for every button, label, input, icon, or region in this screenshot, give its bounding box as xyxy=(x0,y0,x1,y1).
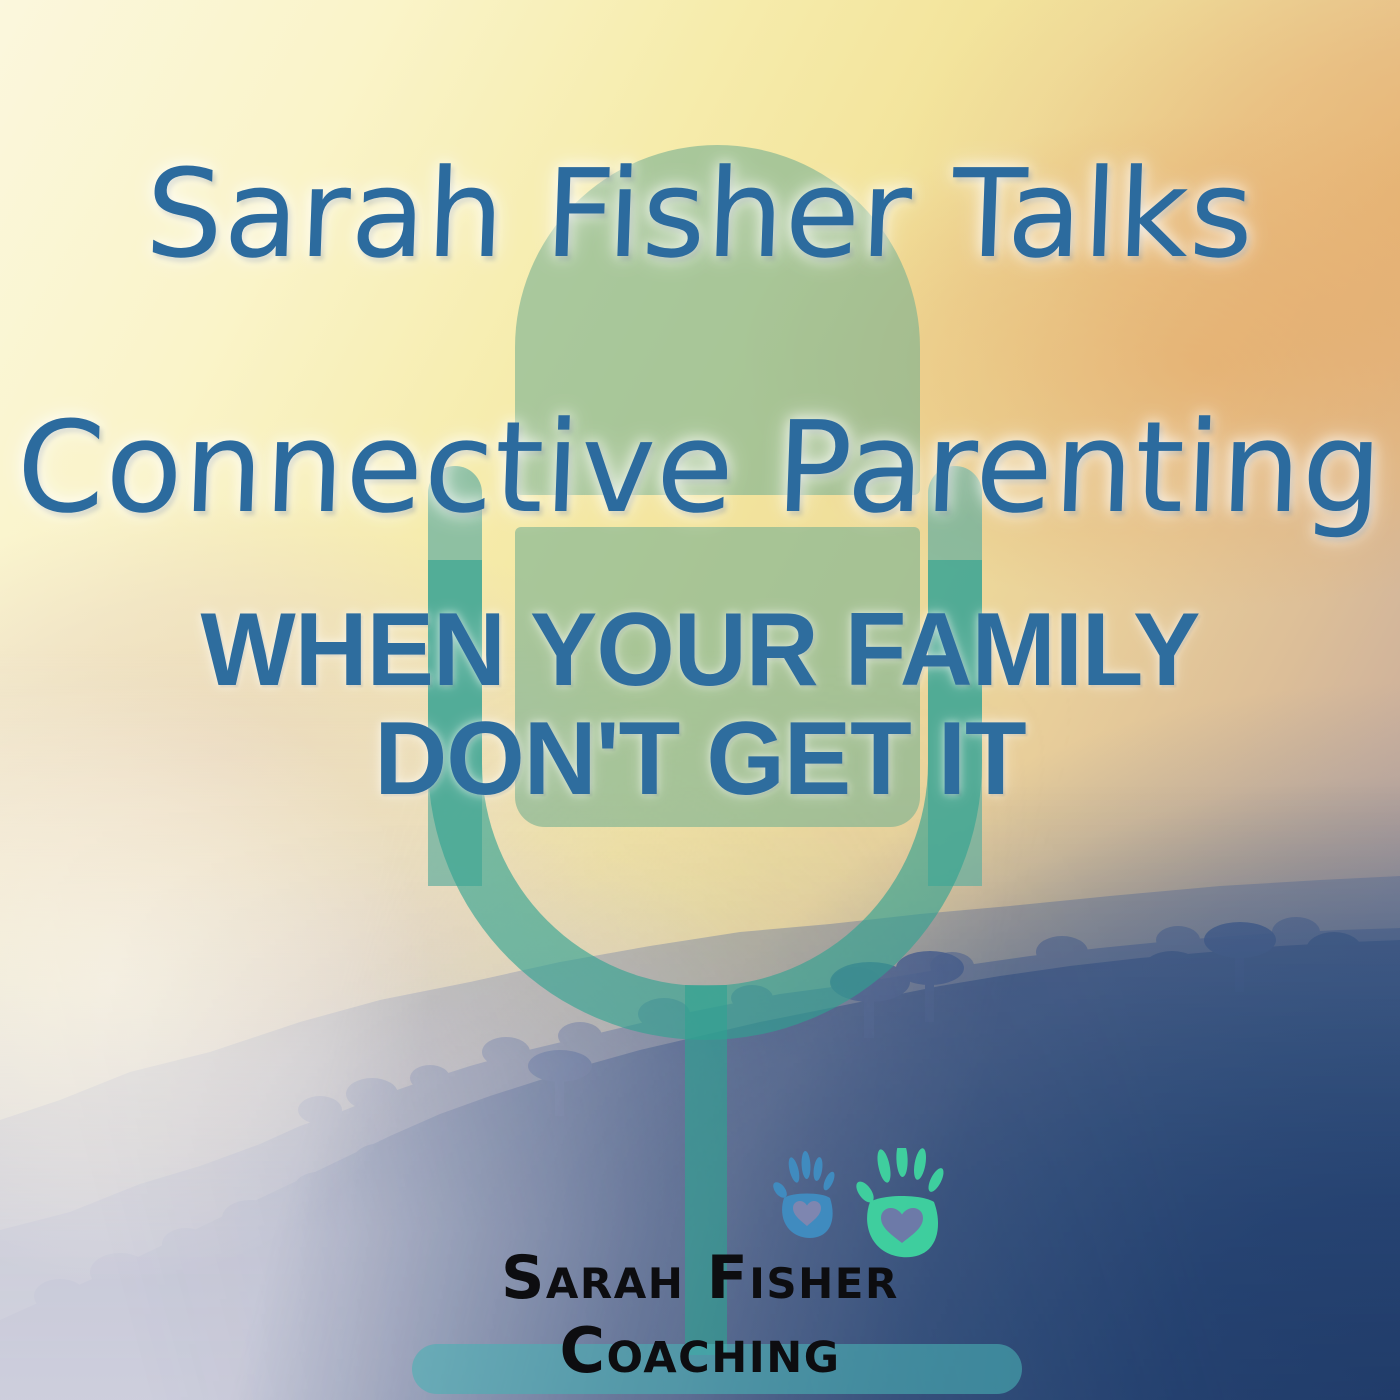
show-title: Sarah Fisher Talks Connective Parenting xyxy=(0,26,1400,658)
brand-logo-line-2: Coaching xyxy=(0,1320,1400,1382)
episode-title-line-2: DON'T GET IT xyxy=(89,705,1311,814)
episode-title: WHEN YOUR FAMILY DON'T GET IT xyxy=(89,596,1311,814)
show-title-line-1: Sarah Fisher Talks xyxy=(0,152,1400,278)
show-title-line-2: Connective Parenting xyxy=(0,403,1400,533)
episode-title-line-1: WHEN YOUR FAMILY xyxy=(89,596,1311,705)
brand-logo: Sarah Fisher Coaching xyxy=(0,1248,1400,1382)
handprint-small-blue-icon xyxy=(771,1151,837,1238)
brand-logo-line-1: Sarah Fisher xyxy=(0,1248,1400,1308)
podcast-cover-artwork: Sarah Fisher Talks Connective Parenting … xyxy=(0,0,1400,1400)
